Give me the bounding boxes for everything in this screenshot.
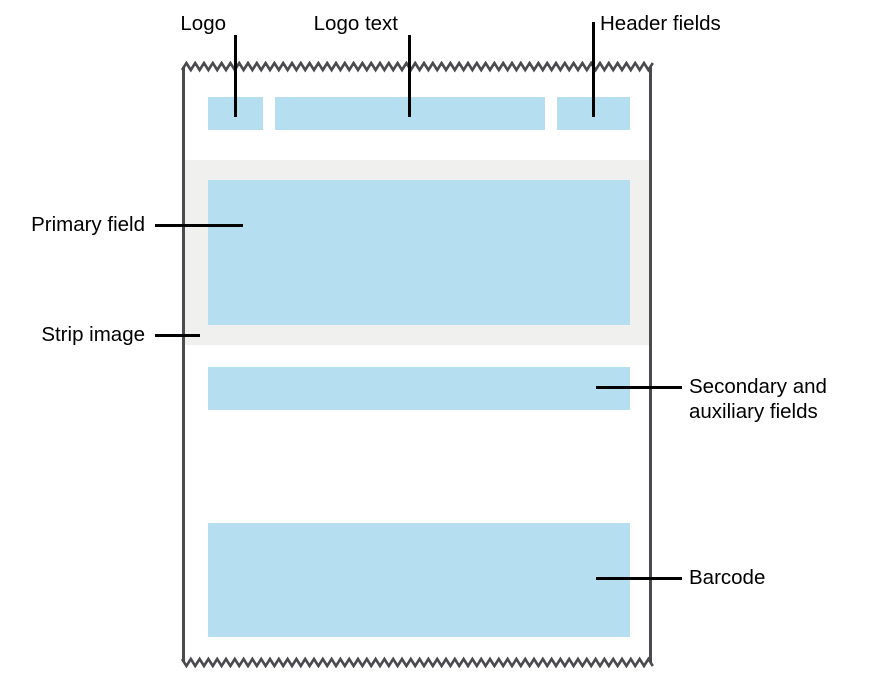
annotation-logo-text: Logo text — [252, 11, 398, 36]
secondary-auxiliary-fields-region — [208, 367, 630, 410]
annotation-secondary-auxiliary-fields: Secondary and auxiliary fields — [689, 374, 872, 424]
annotation-strip-image: Strip image — [22, 322, 145, 347]
annotation-header-fields: Header fields — [600, 11, 860, 36]
ticket-bottom-perforation — [181, 656, 655, 668]
primary-field-region — [208, 180, 630, 325]
annotation-logo: Logo — [118, 11, 226, 36]
barcode-region — [208, 523, 630, 637]
ticket-top-perforation — [181, 61, 655, 73]
pass-layout-diagram: Logo Logo text Header fields Primary fie… — [0, 0, 872, 679]
leader-line-logo-text — [408, 35, 411, 117]
leader-line-header-fields — [592, 22, 595, 117]
leader-line-logo — [234, 35, 237, 117]
leader-line-secondary-auxiliary-fields — [596, 386, 682, 389]
annotation-barcode: Barcode — [689, 565, 872, 590]
leader-line-strip-image — [155, 334, 200, 337]
leader-line-barcode — [596, 577, 682, 580]
annotation-primary-field: Primary field — [8, 212, 145, 237]
leader-line-primary-field — [155, 224, 243, 227]
